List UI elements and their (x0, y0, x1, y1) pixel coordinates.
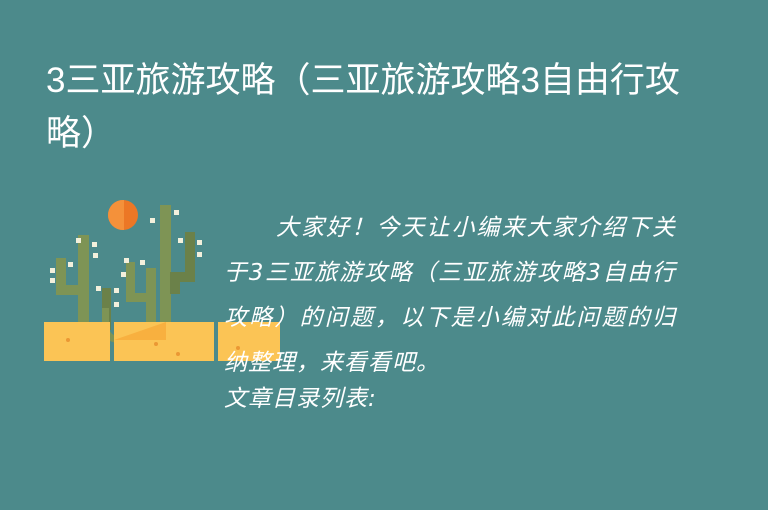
toc-heading: 文章目录列表: (224, 377, 676, 422)
article-body: 大家好！今天让小编来大家介绍下关于3三亚旅游攻略（三亚旅游攻略3自由行攻略）的问… (224, 206, 676, 422)
cactus-spine-icon (96, 286, 101, 291)
cactus-spine-icon (140, 260, 145, 265)
cactus-spine-icon (92, 242, 97, 247)
cactus-spine-icon (150, 218, 155, 223)
cactus-spine-icon (114, 288, 119, 293)
cactus-spine-icon (93, 253, 98, 258)
cactus-spine-icon (68, 262, 73, 267)
sand-block-left (44, 322, 110, 361)
cactus-spine-icon (121, 272, 126, 277)
cactus-spine-icon (197, 240, 202, 245)
cactus-spine-icon (50, 278, 55, 283)
cactus-spine-icon (178, 238, 183, 243)
page-root: 3三亚旅游攻略（三亚旅游攻略3自由行攻略） (0, 0, 768, 510)
sand-speck (176, 352, 180, 356)
cactus-spine-icon (50, 268, 55, 273)
cactus-middle-arm-elbow (126, 293, 150, 302)
sun-highlight-icon (108, 200, 124, 230)
cactus-spine-icon (174, 210, 179, 215)
page-title: 3三亚旅游攻略（三亚旅游攻略3自由行攻略） (46, 54, 686, 160)
desert-cactus-illustration (30, 190, 230, 370)
cactus-spine-icon (76, 238, 81, 243)
cactus-spine-icon (197, 252, 202, 257)
intro-paragraph: 大家好！今天让小编来大家介绍下关于3三亚旅游攻略（三亚旅游攻略3自由行攻略）的问… (224, 206, 676, 386)
sand-speck (154, 342, 158, 346)
cactus-spine-icon (114, 302, 119, 307)
cactus-left-arm-elbow (56, 285, 81, 295)
sand-speck (66, 338, 70, 342)
cactus-spine-icon (124, 258, 129, 263)
cactus-right-arm-lower (170, 272, 180, 294)
